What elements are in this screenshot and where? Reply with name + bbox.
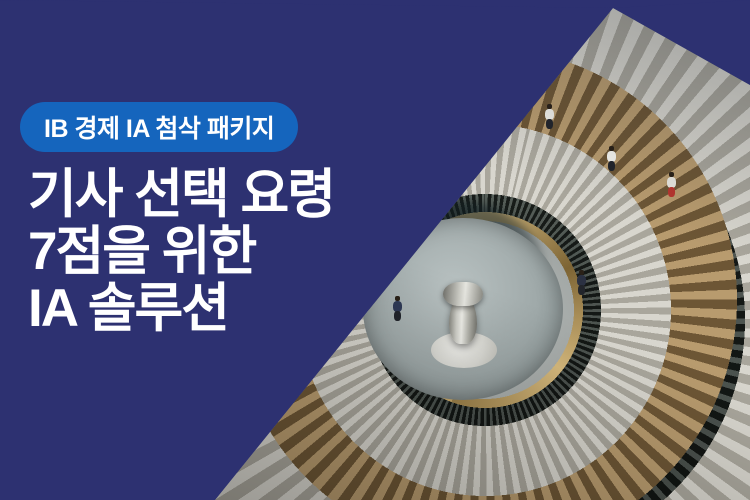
banner-content: IB 경제 IA 첨삭 패키지 기사 선택 요령 7점을 위한 IA 솔루션 (0, 0, 750, 500)
headline-line-3: IA 솔루션 (28, 280, 334, 337)
category-badge-label: IB 경제 IA 첨삭 패키지 (44, 109, 274, 145)
headline: 기사 선택 요령 7점을 위한 IA 솔루션 (28, 166, 334, 338)
headline-line-2: 7점을 위한 (28, 223, 334, 280)
headline-line-1: 기사 선택 요령 (28, 166, 334, 223)
category-badge: IB 경제 IA 첨삭 패키지 (20, 102, 298, 152)
promo-banner: IB 경제 IA 첨삭 패키지 기사 선택 요령 7점을 위한 IA 솔루션 (0, 0, 750, 500)
